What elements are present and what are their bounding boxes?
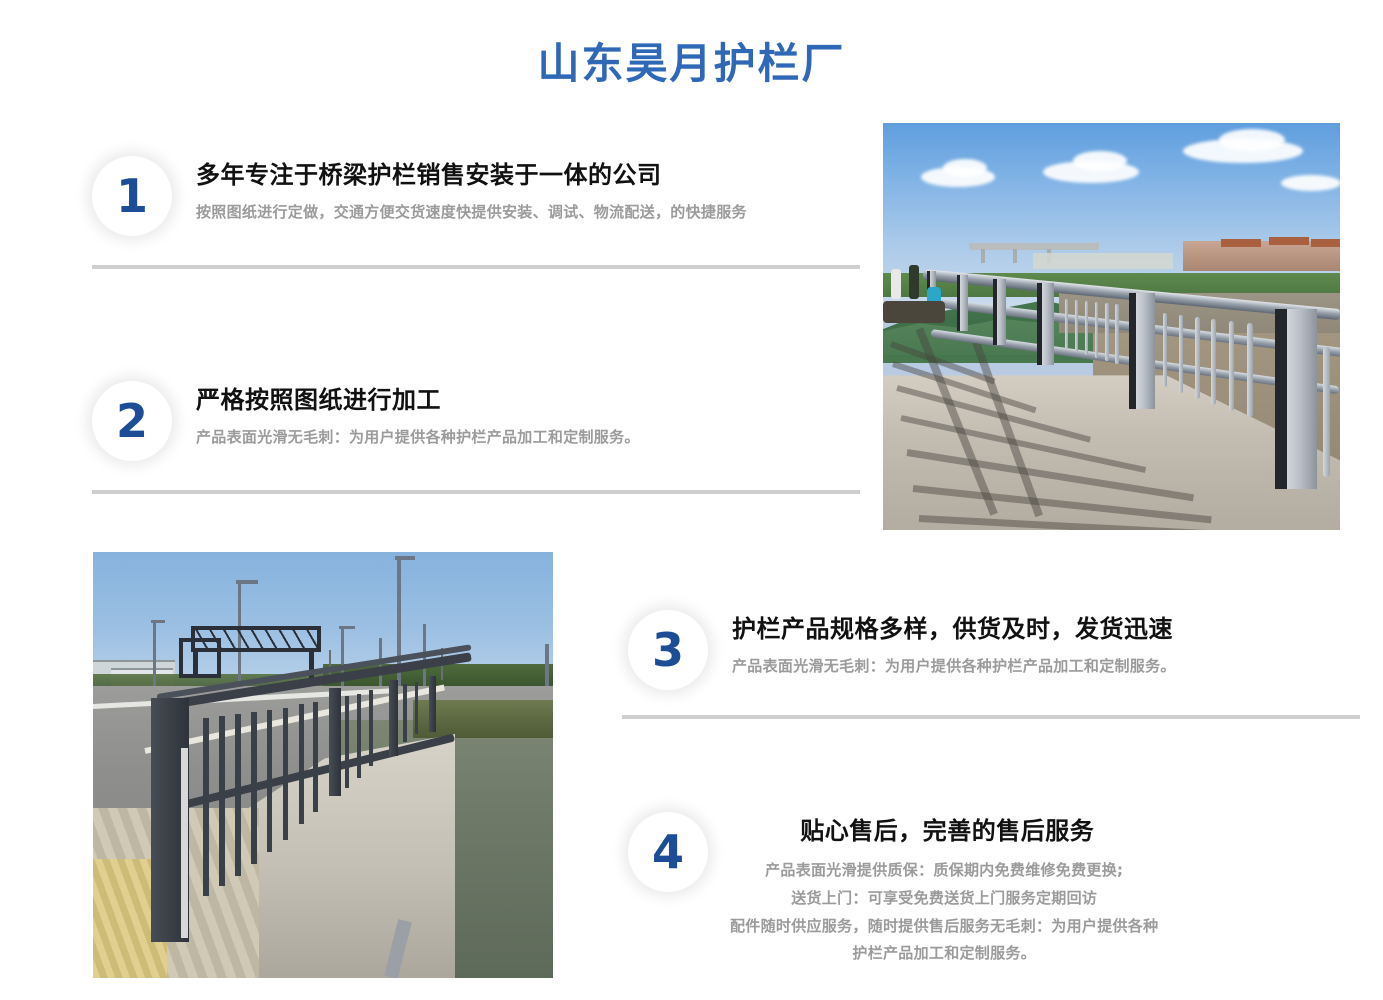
street-lamp-arm <box>151 620 165 623</box>
worker-figure <box>909 265 919 299</box>
material-pile <box>883 301 945 323</box>
photo-steel-bridge-railing <box>883 123 1340 530</box>
photo-dark-bridge-railing <box>93 552 553 978</box>
feature-item-2: 2 严格按照图纸进行加工 产品表面光滑无毛刺：为用户提供各种护栏产品加工和定制服… <box>92 377 882 461</box>
house-roof <box>1311 239 1340 247</box>
railing-baluster <box>1179 315 1183 393</box>
street-lamp-arm <box>395 556 415 560</box>
railing-baluster <box>1211 319 1216 405</box>
feature-number-2: 2 <box>116 398 148 444</box>
post-light-strip <box>181 748 188 938</box>
railing-baluster <box>345 696 349 788</box>
railing-baluster <box>1163 313 1167 387</box>
post-dark-band <box>993 279 997 345</box>
feature-text-1: 多年专注于桥梁护栏销售安装于一体的公司 按照图纸进行定做，交通方便交货速度快提供… <box>172 152 747 224</box>
railing-baluster <box>357 694 361 778</box>
cloud-shape <box>1281 175 1340 191</box>
feature-number-badge-2: 2 <box>92 381 172 461</box>
street-lamp-pole <box>153 620 156 690</box>
feature-title-1: 多年专注于桥梁护栏销售安装于一体的公司 <box>196 160 747 190</box>
railing-post <box>429 676 436 732</box>
railing-baluster <box>1323 347 1330 477</box>
small-village <box>1033 253 1173 269</box>
railing-baluster <box>369 690 373 766</box>
feature-text-4: 贴心售后，完善的售后服务 产品表面光滑提供质保：质保期内免费维修免费更换; 送货… <box>708 808 1158 968</box>
feature-desc-4: 产品表面光滑提供质保：质保期内免费维修免费更换; 送货上门：可享受免费送货上门服… <box>730 857 1158 968</box>
cloud-shape <box>1219 129 1285 151</box>
cloud-shape <box>1073 151 1127 171</box>
railing-post <box>1037 283 1054 365</box>
gantry-sign-frame <box>179 638 221 678</box>
railing-baluster <box>1247 323 1253 417</box>
railing-baluster <box>267 710 272 852</box>
feature-desc-4-line-4: 护栏产品加工和定制服务。 <box>730 940 1158 968</box>
post-dark-band <box>1037 283 1042 365</box>
railing-baluster <box>1075 300 1078 352</box>
feature-number-3: 3 <box>652 627 684 673</box>
feature-desc-4-line-1: 产品表面光滑提供质保：质保期内免费维修免费更换; <box>730 857 1158 885</box>
street-lamp-arm <box>236 580 258 584</box>
feature-text-3: 护栏产品规格多样，供货及时，发货迅速 产品表面光滑无毛刺：为用户提供各种护栏产品… <box>708 606 1176 678</box>
feature-desc-2: 产品表面光滑无毛刺：为用户提供各种护栏产品加工和定制服务。 <box>196 426 640 449</box>
feature-number-badge-3: 3 <box>628 610 708 690</box>
feature-title-4: 贴心售后，完善的售后服务 <box>730 816 1158 846</box>
railing-post <box>957 275 968 331</box>
house-roof <box>1269 237 1309 245</box>
feature-desc-1: 按照图纸进行定做，交通方便交货速度快提供安装、调试、物流配送，的快捷服务 <box>196 201 747 224</box>
railing-baluster <box>1065 299 1068 349</box>
gantry-leg <box>193 648 198 678</box>
street-lamp-pole <box>423 624 426 692</box>
railing-baluster <box>219 716 225 886</box>
railing-post <box>329 688 341 796</box>
railing-baluster <box>1095 302 1098 358</box>
feature-text-2: 严格按照图纸进行加工 产品表面光滑无毛刺：为用户提供各种护栏产品加工和定制服务。 <box>172 377 640 449</box>
feature-desc-4-line-2: 送货上门：可享受免费送货上门服务定期回访 <box>730 885 1158 913</box>
worker-figure <box>891 269 901 299</box>
railing-post <box>993 279 1006 345</box>
post-dark-band <box>1129 293 1136 409</box>
feature-number-badge-4: 4 <box>628 812 708 892</box>
street-lamp-arm <box>339 626 355 629</box>
feature-divider-1 <box>92 265 860 269</box>
post-dark-band <box>957 275 960 331</box>
railing-baluster <box>415 682 418 734</box>
railing-baluster <box>313 702 318 812</box>
distant-viaduct <box>969 243 1099 250</box>
railing-baluster <box>203 718 209 896</box>
feature-item-1: 1 多年专注于桥梁护栏销售安装于一体的公司 按照图纸进行定做，交通方便交货速度快… <box>92 152 882 236</box>
street-lamp-pole <box>341 628 344 692</box>
railing-baluster <box>1229 321 1234 411</box>
railing-post <box>389 680 398 756</box>
railing-baluster <box>1195 317 1200 399</box>
feature-divider-2 <box>92 490 860 494</box>
feature-title-3: 护栏产品规格多样，供货及时，发货迅速 <box>732 614 1176 644</box>
feature-title-2: 严格按照图纸进行加工 <box>196 385 640 415</box>
feature-desc-4-line-3: 配件随时供应服务，随时提供售后服务无毛刺：为用户提供各种 <box>730 913 1158 941</box>
post-dark-band <box>1275 309 1287 489</box>
railing-baluster <box>251 712 257 864</box>
railing-baluster <box>1115 304 1119 364</box>
railing-post <box>1275 309 1317 489</box>
viaduct-pier <box>1013 249 1017 263</box>
poster-root: 山东昊月护栏厂 <box>0 0 1383 1000</box>
railing-baluster <box>403 684 407 742</box>
page-title: 山东昊月护栏厂 <box>0 30 1383 91</box>
railing-baluster <box>1105 303 1109 361</box>
house-roof <box>1221 239 1261 247</box>
railing-baluster <box>283 708 288 840</box>
railing-post <box>1129 293 1155 409</box>
feature-item-3: 3 护栏产品规格多样，供货及时，发货迅速 产品表面光滑无毛刺：为用户提供各种护栏… <box>628 606 1368 690</box>
cloud-shape <box>943 159 987 177</box>
feature-number-4: 4 <box>652 829 684 875</box>
railing-baluster <box>1085 301 1088 355</box>
feature-desc-3: 产品表面光滑无毛刺：为用户提供各种护栏产品加工和定制服务。 <box>732 655 1176 678</box>
feature-number-badge-1: 1 <box>92 156 172 236</box>
feature-divider-3 <box>622 715 1360 719</box>
feature-item-4: 4 贴心售后，完善的售后服务 产品表面光滑提供质保：质保期内免费维修免费更换; … <box>628 808 1368 968</box>
railing-baluster <box>235 714 241 876</box>
feature-number-1: 1 <box>116 173 148 219</box>
railing-baluster <box>299 704 304 824</box>
viaduct-pier <box>981 249 985 263</box>
